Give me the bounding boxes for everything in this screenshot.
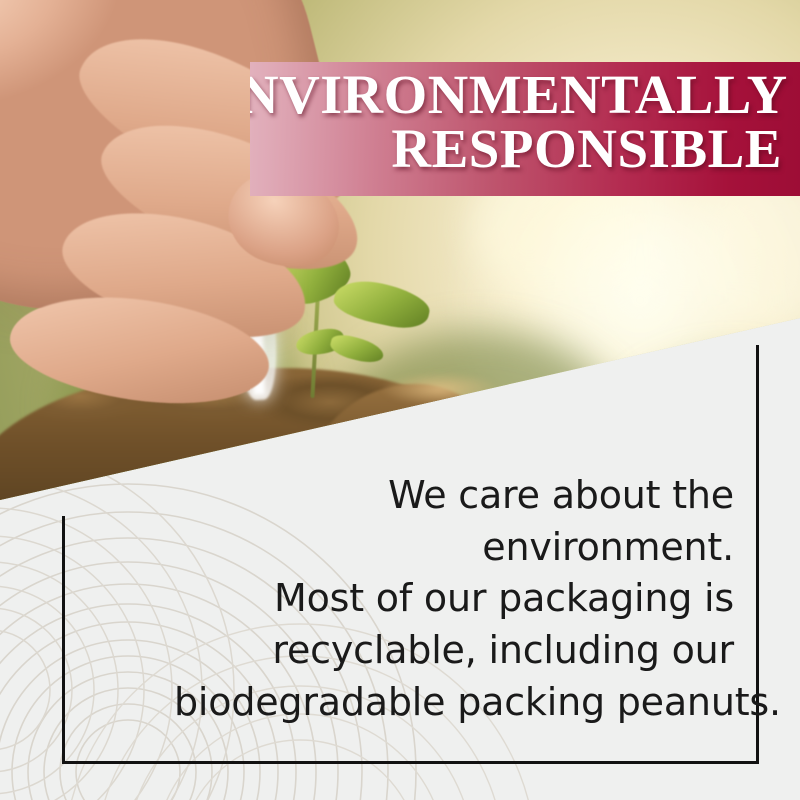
statement-line: biodegradable packing peanuts. [174,677,734,729]
environment-statement: We care about the environment. Most of o… [174,470,734,728]
statement-line: We care about the [174,470,734,522]
statement-line: environment. [174,522,734,574]
frame-bottom-rule [62,761,759,764]
banner-title: ENVIRONMENTALLY RESPONSIBLE [214,68,782,176]
statement-line: Most of our packaging is [174,573,734,625]
frame-left-rule [62,516,65,764]
environmentally-responsible-poster: ENVIRONMENTALLY RESPONSIBLE We care abou… [0,0,800,800]
environmentally-responsible-banner: ENVIRONMENTALLY RESPONSIBLE [214,62,800,196]
banner-title-line2: RESPONSIBLE [214,122,782,176]
statement-line: recyclable, including our [174,625,734,677]
banner-title-line1: ENVIRONMENTALLY [214,68,788,122]
